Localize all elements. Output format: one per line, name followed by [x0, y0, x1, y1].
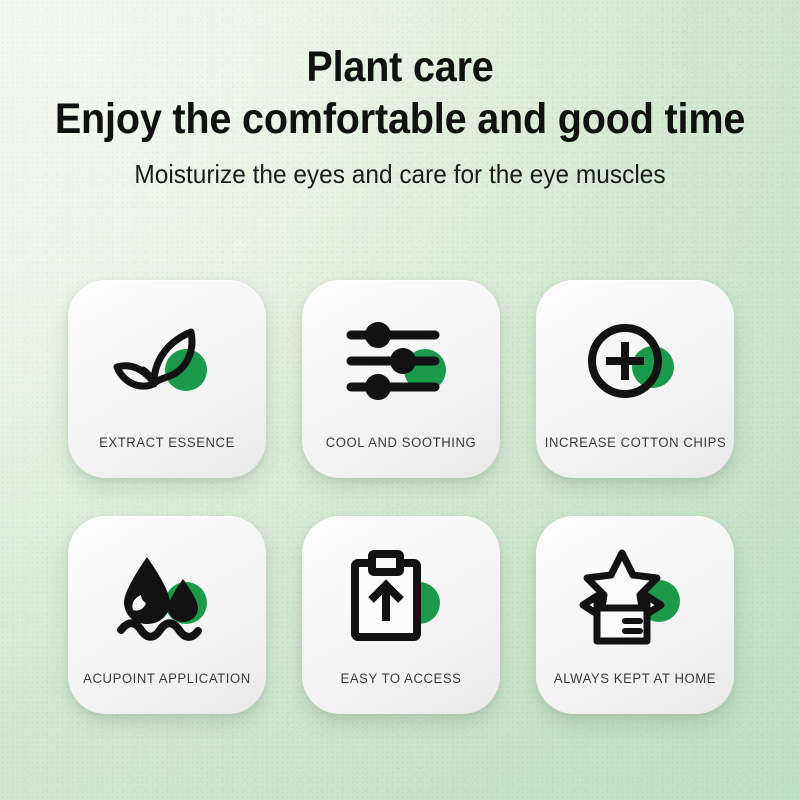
headline-primary: Plant care [32, 44, 768, 90]
clipboard-upload-icon [302, 538, 500, 656]
feature-card-label: EXTRACT ESSENCE [77, 435, 257, 450]
subtitle-text: Moisturize the eyes and care for the eye… [24, 159, 776, 190]
feature-card-label: COOL AND SOOTHING [311, 435, 491, 450]
feature-card-cool-and-soothing[interactable]: COOL AND SOOTHING [302, 280, 500, 478]
feature-card-easy-to-access[interactable]: EASY TO ACCESS [302, 516, 500, 714]
feature-card-label: ACUPOINT APPLICATION [77, 671, 257, 686]
feature-card-label: EASY TO ACCESS [311, 671, 491, 686]
feature-card-extract-essence[interactable]: EXTRACT ESSENCE [68, 280, 266, 478]
headline-secondary: Enjoy the comfortable and good time [32, 96, 768, 142]
feature-card-acupoint-application[interactable]: ACUPOINT APPLICATION [68, 516, 266, 714]
open-box-star-icon [536, 538, 734, 656]
sliders-icon [302, 302, 500, 420]
plus-circle-icon [536, 302, 734, 420]
poster-canvas: Plant care Enjoy the comfortable and goo… [0, 0, 800, 800]
water-drops-icon [68, 538, 266, 656]
feature-card-increase-cotton-chips[interactable]: INCREASE COTTON CHIPS [536, 280, 734, 478]
feature-card-always-kept-at-home[interactable]: ALWAYS KEPT AT HOME [536, 516, 734, 714]
header-block: Plant care Enjoy the comfortable and goo… [0, 44, 800, 190]
feature-card-label: INCREASE COTTON CHIPS [545, 435, 725, 450]
leaf-sprout-icon [68, 302, 266, 420]
feature-card-grid: EXTRACT ESSENCE COOL AND SOOTHING [68, 280, 734, 714]
feature-card-label: ALWAYS KEPT AT HOME [545, 671, 725, 686]
